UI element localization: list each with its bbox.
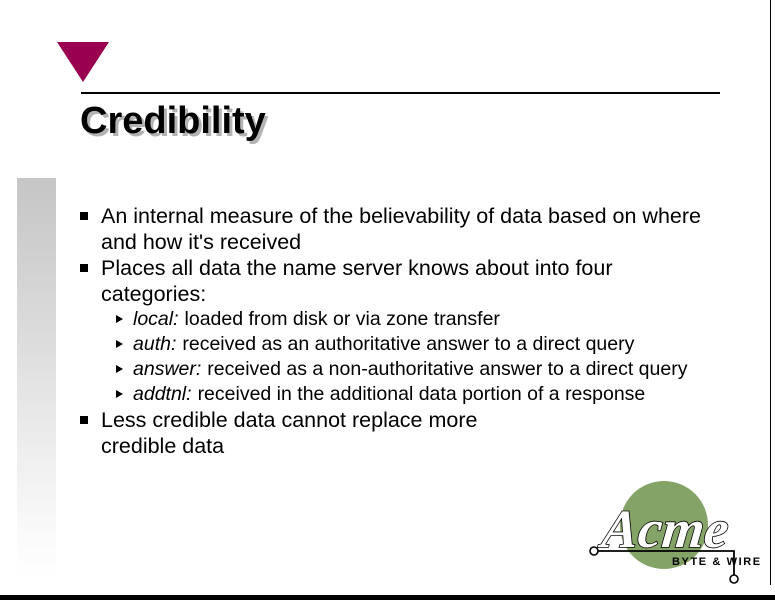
slide-right-border bbox=[770, 0, 771, 585]
logo-tagline: BYTE & WIRE bbox=[672, 556, 762, 568]
wire-connector-left-icon bbox=[590, 547, 598, 555]
sub-bullet-text: loaded from disk or via zone transfer bbox=[185, 308, 500, 330]
slide-body: An internal measure of the believability… bbox=[80, 203, 720, 459]
bullet-text: Less credible data cannot replace more c… bbox=[101, 408, 477, 458]
triangle-right-bullet-icon bbox=[116, 390, 123, 398]
bullet-item: Less credible data cannot replace more c… bbox=[80, 407, 535, 459]
bullet-item: An internal measure of the believability… bbox=[80, 203, 720, 255]
triangle-right-bullet-icon bbox=[116, 365, 123, 373]
page-title: Credibility bbox=[80, 100, 266, 143]
sub-bullet-item: answer:received as a non-authoritative a… bbox=[116, 357, 720, 382]
bullet-text: An internal measure of the believability… bbox=[101, 204, 701, 254]
sub-bullet-keyword: auth: bbox=[133, 333, 176, 355]
square-bullet-icon bbox=[80, 416, 88, 424]
slide-bottom-border bbox=[0, 595, 775, 600]
decorative-sidebar-bar bbox=[17, 178, 56, 578]
sub-bullet-text: received in the additional data portion … bbox=[198, 383, 646, 405]
sub-bullet-item: addtnl:received in the additional data p… bbox=[116, 382, 720, 407]
square-bullet-icon bbox=[80, 264, 88, 272]
triangle-right-bullet-icon bbox=[116, 340, 123, 348]
bullet-text: Places all data the name server knows ab… bbox=[101, 256, 613, 306]
logo-wordmark: Acme bbox=[596, 499, 731, 559]
triangle-right-bullet-icon bbox=[116, 315, 123, 323]
bullet-item: Places all data the name server knows ab… bbox=[80, 255, 720, 307]
sub-bullet-keyword: local: bbox=[133, 308, 179, 330]
sub-bullet-text: received as a non-authoritative answer t… bbox=[207, 358, 687, 380]
sub-bullet-keyword: answer: bbox=[133, 358, 201, 380]
sub-bullet-item: auth:received as an authoritative answer… bbox=[116, 332, 720, 357]
triangle-down-icon bbox=[57, 42, 109, 82]
slide-canvas: Credibility An internal measure of the b… bbox=[0, 0, 775, 600]
title-divider bbox=[81, 92, 720, 94]
acme-logo-graphic: Acme BYTE & WIRE bbox=[586, 477, 766, 589]
sub-bullet-item: local:loaded from disk or via zone trans… bbox=[116, 307, 720, 332]
wire-connector-right-icon bbox=[730, 575, 738, 583]
sub-bullet-list: local:loaded from disk or via zone trans… bbox=[116, 307, 720, 407]
square-bullet-icon bbox=[80, 212, 88, 220]
sub-bullet-text: received as an authoritative answer to a… bbox=[182, 333, 634, 355]
acme-logo: Acme BYTE & WIRE bbox=[586, 477, 766, 589]
sub-bullet-keyword: addtnl: bbox=[133, 383, 192, 405]
